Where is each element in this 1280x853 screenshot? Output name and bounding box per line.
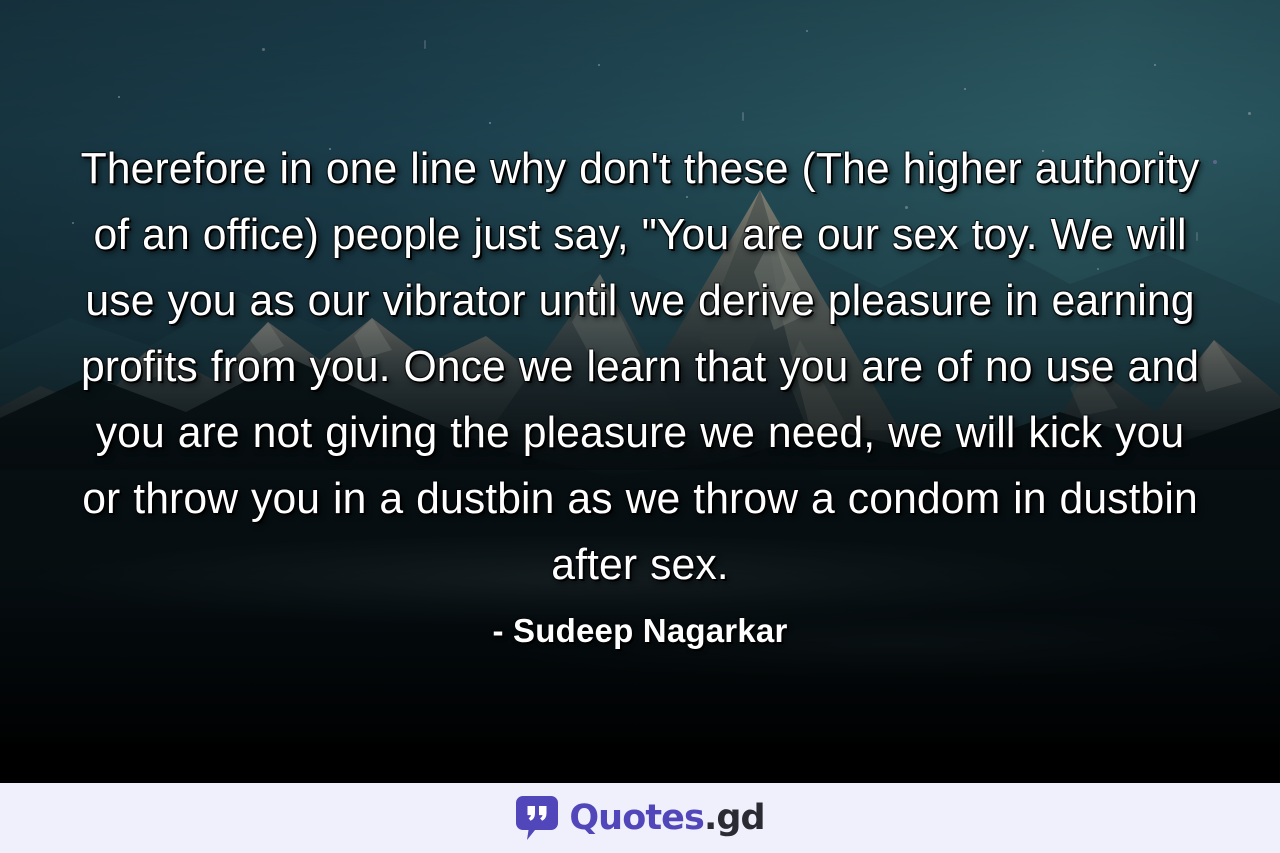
brand-wordmark: Quotes.gd <box>569 801 764 836</box>
quote-bubble-icon <box>515 795 559 841</box>
bottom-black-band <box>0 742 1280 783</box>
brand-logo-link[interactable]: Quotes.gd <box>515 795 764 841</box>
quote-text: Therefore in one line why don't these (T… <box>77 136 1202 598</box>
quote-card: Therefore in one line why don't these (T… <box>0 0 1280 853</box>
brand-tld: .gd <box>704 798 765 838</box>
quote-block: Therefore in one line why don't these (T… <box>0 136 1280 652</box>
quote-author: - Sudeep Nagarkar <box>60 610 1220 652</box>
footer-bar: Quotes.gd <box>0 783 1280 853</box>
brand-name: Quotes <box>569 798 704 838</box>
